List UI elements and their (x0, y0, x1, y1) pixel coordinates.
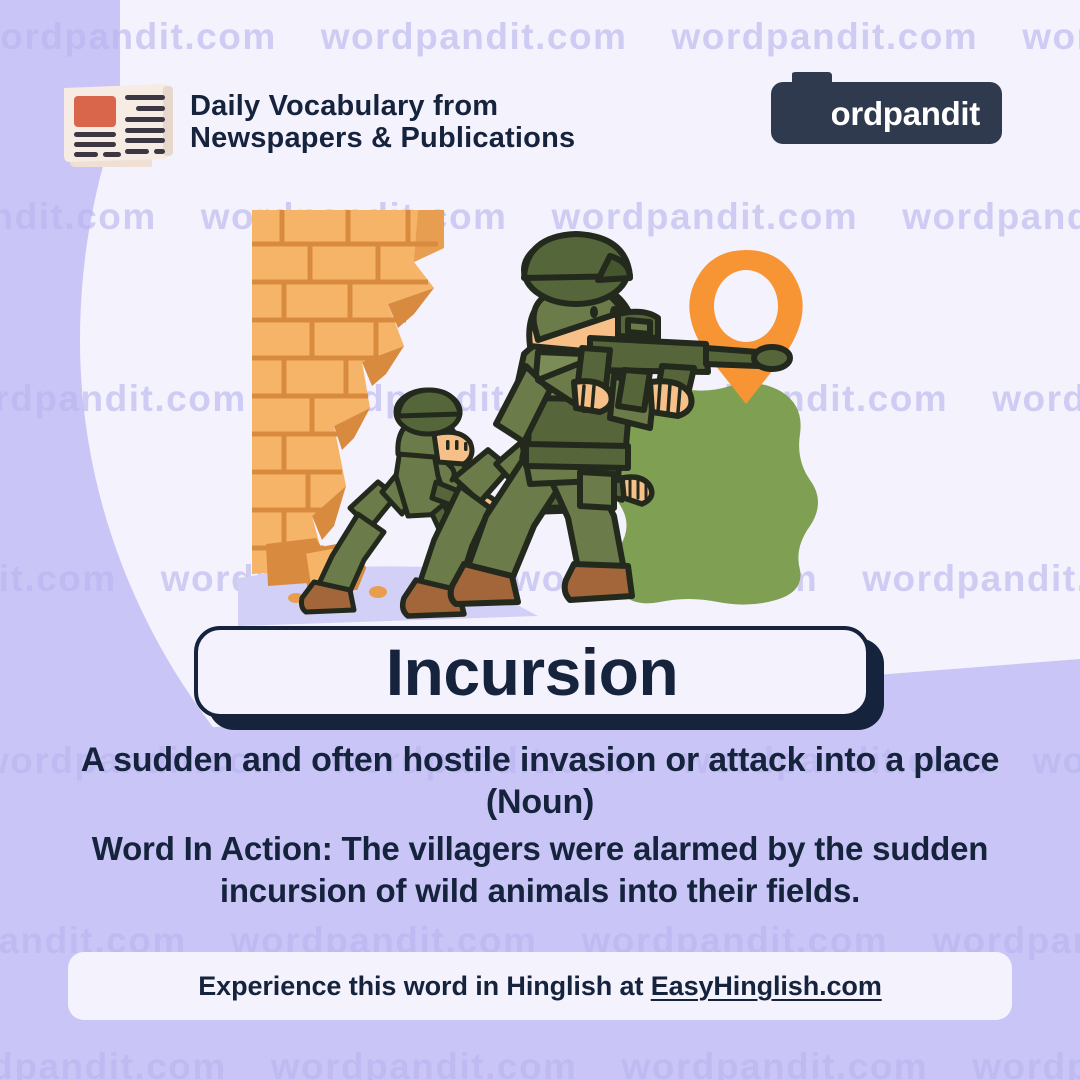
word-box: Incursion (194, 626, 870, 718)
debris-1 (369, 586, 387, 598)
word-in-action-line2: incursion of wild animals into their fie… (28, 870, 1052, 912)
bookmark-w-icon (787, 72, 833, 146)
newspaper-icon (56, 70, 184, 170)
vocabulary-word-container: Incursion (194, 626, 884, 730)
vocabulary-card: wordpandit.comwordpandit.comwordpandit.c… (0, 0, 1080, 1080)
footer-text: Experience this word in Hinglish at Easy… (198, 971, 881, 1002)
header: Daily Vocabulary from Newspapers & Publi… (0, 62, 1080, 182)
soldiers-incursion-illustration (238, 196, 878, 636)
word-in-action-line1: Word In Action: The villagers were alarm… (28, 828, 1052, 870)
easyhinglish-link[interactable]: EasyHinglish.com (651, 971, 882, 1001)
header-title-line2: Newspapers & Publications (190, 122, 575, 154)
map-pin-hole (714, 270, 778, 342)
footer-prefix: Experience this word in Hinglish at (198, 971, 651, 1001)
word-in-action-block: Word In Action: The villagers were alarm… (28, 828, 1052, 912)
part-of-speech: (Noun) (486, 783, 594, 821)
vocabulary-word: Incursion (386, 639, 679, 705)
definition-block: A sudden and often hostile invasion or a… (28, 740, 1052, 824)
definition-meaning: A sudden and often hostile invasion or a… (81, 741, 1000, 779)
footer-banner[interactable]: Experience this word in Hinglish at Easy… (68, 952, 1012, 1020)
brand-logo[interactable]: ordpandit (771, 82, 1002, 144)
page-title: Daily Vocabulary from Newspapers & Publi… (190, 90, 575, 155)
header-title-line1: Daily Vocabulary from (190, 90, 575, 122)
brand-logo-text: ordpandit (831, 97, 980, 130)
